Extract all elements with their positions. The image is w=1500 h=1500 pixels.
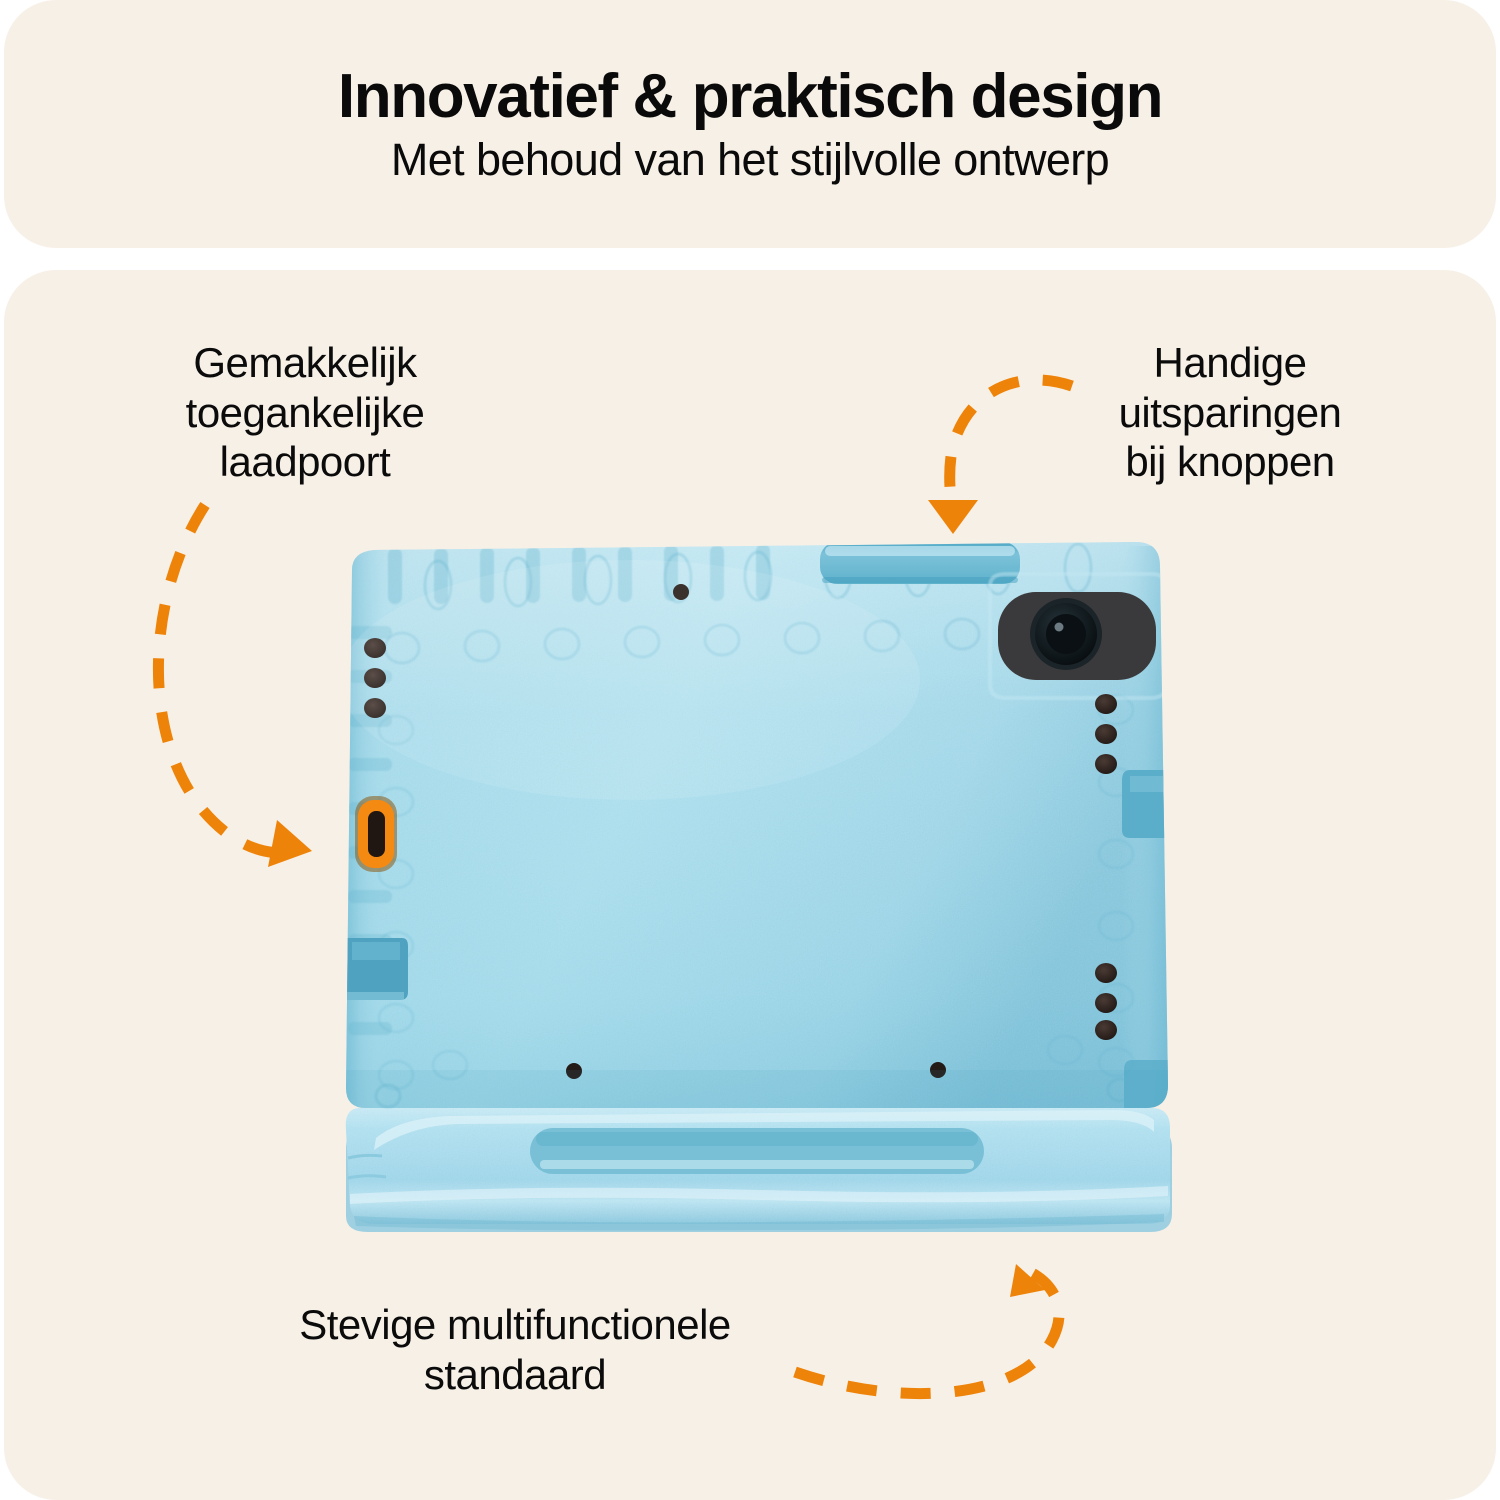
header-text-block: Innovatief & praktisch design Met behoud… — [4, 0, 1496, 248]
stand-groove — [530, 1128, 984, 1174]
tablet-case-image — [330, 530, 1190, 1250]
button-cutout-groove-top — [820, 542, 1020, 584]
page-subtitle: Met behoud van het stijlvolle ontwerp — [391, 135, 1109, 185]
camera-cutout — [998, 592, 1156, 680]
product-infographic: Innovatief & praktisch design Met behoud… — [0, 0, 1500, 1500]
speaker-holes-right-lower — [1095, 963, 1117, 1040]
header-card: Innovatief & praktisch design Met behoud… — [4, 0, 1496, 248]
button-cutout-left — [346, 938, 408, 1000]
case-body — [340, 542, 1170, 1112]
callout-label-button-cutouts: Handige uitsparingen bij knoppen — [1040, 338, 1420, 487]
button-cutout-right — [1122, 770, 1168, 838]
callout-label-stand: Stevige multifunctionele standaard — [175, 1300, 855, 1399]
charging-port-cutout — [355, 796, 397, 872]
foldable-stand-handle — [346, 1108, 1172, 1232]
callout-label-charging-port: Gemakkelijk toegankelijke laadpoort — [95, 338, 515, 487]
page-title: Innovatief & praktisch design — [338, 64, 1162, 129]
speaker-holes-right-upper — [1095, 694, 1117, 774]
